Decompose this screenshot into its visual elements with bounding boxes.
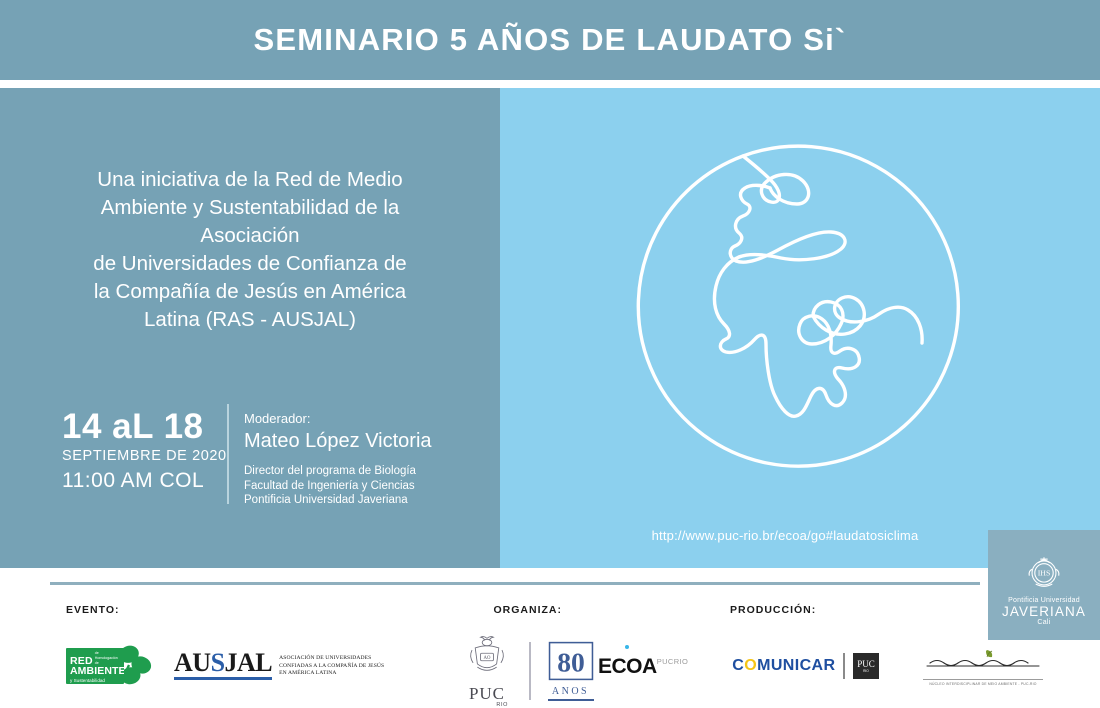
nima-tagline: NÚCLEO INTERDISCIPLINAR DE MEIO AMBIENTE… (923, 679, 1043, 686)
initiative-line: la Compañía de Jesús en América (34, 278, 466, 306)
nima-logo: NÚCLEO INTERDISCIPLINAR DE MEIO AMBIENTE… (923, 646, 1043, 686)
evento-label: EVENTO: (66, 604, 384, 616)
ausjal-au: AU (174, 648, 211, 677)
comunicar-wordmark: COMUNICAR (732, 658, 835, 674)
puc-wordmark: PUC (457, 685, 517, 702)
ecoa-superscript: PUCRIO (657, 657, 689, 666)
ausjal-s: S (211, 648, 225, 677)
comunicar-o: O (744, 657, 757, 674)
ausjal-jal: JAL (225, 648, 273, 677)
javeriana-crest-icon: IHS (1021, 549, 1067, 595)
puc-crest-icon: AO (465, 634, 509, 680)
anos-word: ANOS (543, 686, 599, 698)
anos-80-logo: 80 ANOS (543, 641, 599, 700)
header-band: SEMINARIO 5 AÑOS DE LAUDATO Si` (0, 0, 1100, 80)
ecoa-dot-icon (625, 645, 629, 649)
footer-section-organiza: ORGANIZA: AO PUC R (457, 604, 599, 708)
comunicar-rest: MUNICAR (757, 657, 835, 674)
ausjal-tagline-line: ASOCIACIÓN DE UNIVERSIDADES (279, 655, 384, 663)
ausjal-tagline-line: EN AMÉRICA LATINA (279, 670, 384, 678)
initiative-statement: Una iniciativa de la Red de Medio Ambien… (34, 166, 466, 334)
initiative-line: Ambiente y Sustentabilidad de la (34, 194, 466, 222)
event-date-block: 14 aL 18 SEPTIEMBRE DE 2020 11:00 AM COL (62, 408, 252, 495)
moderator-role-line: Director del programa de Biología (244, 464, 474, 479)
anos-number: 80 (557, 647, 585, 678)
initiative-line: de Universidades de Confianza de (34, 250, 466, 278)
javeriana-line-1: Pontificia Universidad (1008, 597, 1080, 604)
ecoa-logo: ECOA PUCRIO (598, 656, 688, 677)
comunicar-puc-sub: RIO (863, 669, 869, 673)
moderator-role-line: Pontificia Universidad Javeriana (244, 493, 474, 508)
red-ambiente-logo: RED de Homologación de AMBIENTE y Susten… (66, 642, 152, 688)
ausjal-underline (174, 677, 272, 680)
globe-line-art-icon (623, 138, 973, 488)
event-date-month: SEPTIEMBRE DE 2020 (62, 446, 252, 467)
moderator-role-line: Facultad de Ingeniería y Ciencias (244, 479, 474, 494)
moderator-role: Director del programa de Biología Facult… (244, 464, 474, 508)
event-url[interactable]: http://www.puc-rio.br/ecoa/go#laudatosic… (500, 528, 1070, 543)
comunicar-puc-badge: PUC RIO (853, 653, 879, 679)
comunicar-separator (843, 653, 845, 679)
comunicar-puc-word: PUC (857, 660, 875, 669)
produccion-label: PRODUCCIÓN: (730, 604, 816, 616)
javeriana-line-2: JAVERIANA (1002, 604, 1086, 619)
comunicar-c: C (732, 657, 744, 674)
footer: EVENTO: RED de Homologación de (0, 568, 1100, 700)
footer-section-evento: EVENTO: RED de Homologación de (66, 604, 384, 688)
moderator-name: Mateo López Victoria (244, 428, 474, 455)
red-small-1: de Homologación de (95, 651, 121, 666)
page-title: SEMINARIO 5 AÑOS DE LAUDATO Si` (254, 22, 847, 58)
comunicar-logo: COMUNICAR PUC RIO (732, 653, 879, 679)
ecoa-wordmark: ECOA (598, 656, 657, 677)
puc-rio-logo: AO PUC RIO (457, 634, 517, 708)
ausjal-logo: AUSJAL ASOCIACIÓN DE UNIVERSIDADES CONFI… (174, 650, 384, 680)
ausjal-tagline: ASOCIACIÓN DE UNIVERSIDADES CONFIADAS A … (279, 655, 384, 678)
red-word-2: AMBIENTE (70, 666, 121, 677)
event-time: 11:00 AM COL (62, 467, 252, 495)
puc-crest-text: AO (484, 656, 491, 661)
footer-divider (50, 582, 980, 585)
initiative-line: Latina (RAS - AUSJAL) (34, 306, 466, 334)
moderator-label: Moderador: (244, 410, 474, 427)
javeriana-line-3: Cali (1037, 619, 1050, 626)
event-date-range: 14 aL 18 (62, 408, 252, 446)
footer-section-produccion: PRODUCCIÓN: ECOA PUCRIO COMUNICAR PUC RI… (730, 604, 816, 616)
right-edge-strip: Vigilada Mineducación - Res. 12220 de 20… (1070, 88, 1100, 568)
poster-body: Una iniciativa de la Red de Medio Ambien… (0, 88, 1100, 568)
vertical-divider (227, 404, 229, 504)
ausjal-wordmark: AUSJAL (174, 650, 272, 676)
organiza-label: ORGANIZA: (457, 604, 599, 616)
organiza-separator (529, 642, 531, 700)
anos-80-icon: 80 (548, 641, 594, 681)
initiative-line: Una iniciativa de la Red de Medio (34, 166, 466, 194)
javeriana-crest-text: IHS (1038, 568, 1051, 577)
wave-leaf-icon (923, 646, 1043, 672)
javeriana-logo-badge: IHS Pontificia Universidad JAVERIANA Cal… (988, 530, 1100, 640)
initiative-line: Asociación (34, 222, 466, 250)
moderator-block: Moderador: Mateo López Victoria Director… (244, 410, 474, 508)
left-info-panel: Una iniciativa de la Red de Medio Ambien… (0, 88, 500, 568)
puc-sub: RIO (457, 702, 517, 708)
